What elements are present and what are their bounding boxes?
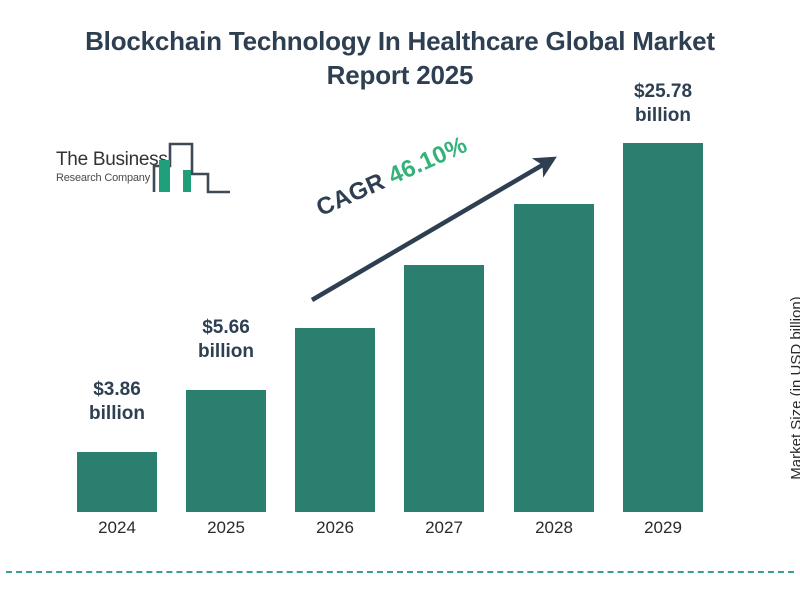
bar-2025 [186, 390, 266, 512]
x-tick-2027: 2027 [404, 518, 484, 538]
x-tick-2028: 2028 [514, 518, 594, 538]
footer-divider [6, 571, 794, 573]
x-tick-2029: 2029 [623, 518, 703, 538]
bar-2024 [77, 452, 157, 512]
bar-chart-plot: $3.86 billion $5.66 billion $25.78 billi… [0, 0, 800, 600]
bar-value-label-2025: $5.66 billion [166, 316, 286, 364]
x-tick-2024: 2024 [77, 518, 157, 538]
chart-canvas: Blockchain Technology In Healthcare Glob… [0, 0, 800, 600]
bar-2028 [514, 204, 594, 512]
bar-2027 [404, 265, 484, 512]
bar-2026 [295, 328, 375, 512]
bar-value-label-2029: $25.78 billion [603, 80, 723, 128]
cagr-annotation: CAGR 46.10% [312, 131, 471, 222]
x-tick-2026: 2026 [295, 518, 375, 538]
y-axis-title: Market Size (in USD billion) [788, 258, 800, 518]
cagr-value: 46.10% [384, 131, 471, 190]
bar-value-label-2024: $3.86 billion [57, 378, 177, 426]
cagr-label: CAGR [312, 168, 389, 222]
x-tick-2025: 2025 [186, 518, 266, 538]
bar-2029 [623, 143, 703, 512]
